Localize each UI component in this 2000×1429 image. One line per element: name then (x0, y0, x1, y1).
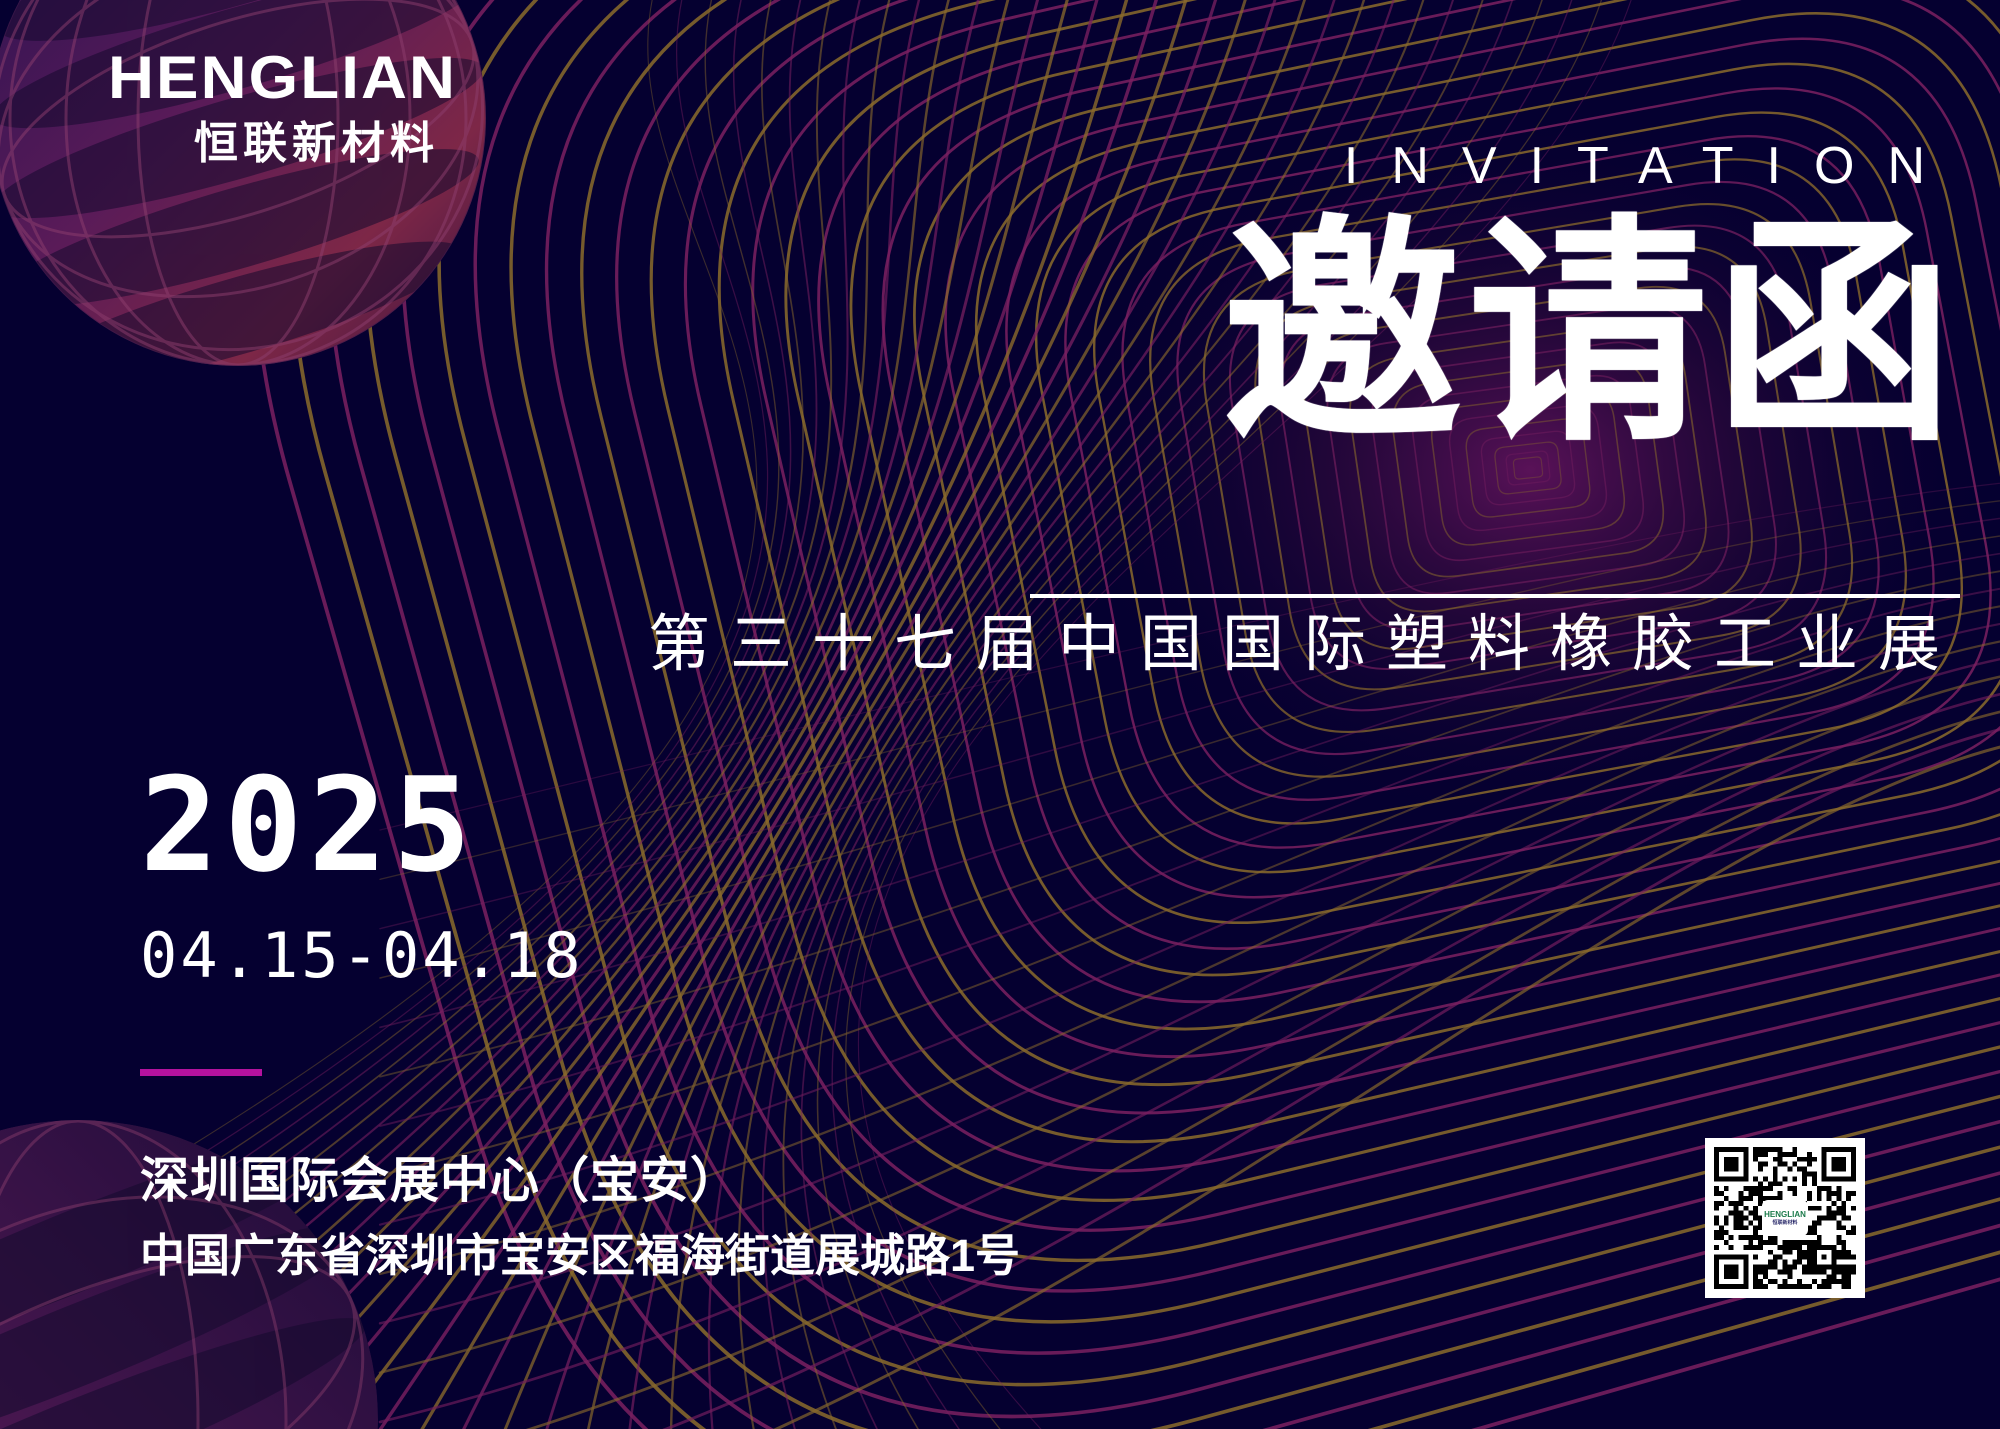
venue-info: 深圳国际会展中心（宝安） 中国广东省深圳市宝安区福海街道展城路1号 (140, 1148, 1020, 1287)
qr-code[interactable]: HENGLIAN 恒联新材料 (1705, 1138, 1865, 1298)
title-divider-rule (1030, 594, 1960, 598)
logo-chinese-name: 恒联新材料 (108, 122, 628, 166)
qr-logo-chinese: 恒联新材料 (1772, 1221, 1797, 1226)
qr-logo-wordmark: HENGLIAN (1764, 1211, 1806, 1219)
invitation-chinese-title: 邀请函 (1222, 212, 1960, 457)
invitation-english-title: INVITATION (1311, 140, 1958, 192)
venue-address: 中国广东省深圳市宝安区福海街道展城路1号 (140, 1226, 1020, 1287)
qr-center-logo: HENGLIAN 恒联新材料 (1763, 1201, 1807, 1235)
invitation-poster: HENGLIAN 恒联新材料 INVITATION 邀请函 第三十七届中国国际塑… (0, 0, 2000, 1429)
event-year: 2025 (140, 760, 477, 890)
logo-wordmark: HENGLIAN (108, 48, 659, 108)
accent-divider-bar (140, 1069, 262, 1076)
brand-logo: HENGLIAN 恒联新材料 (108, 48, 628, 166)
event-subtitle: 第三十七届中国国际塑料橡胶工业展 (628, 606, 1960, 684)
venue-name: 深圳国际会展中心（宝安） (140, 1148, 1020, 1214)
event-date-range: 04.15-04.18 (140, 925, 584, 987)
